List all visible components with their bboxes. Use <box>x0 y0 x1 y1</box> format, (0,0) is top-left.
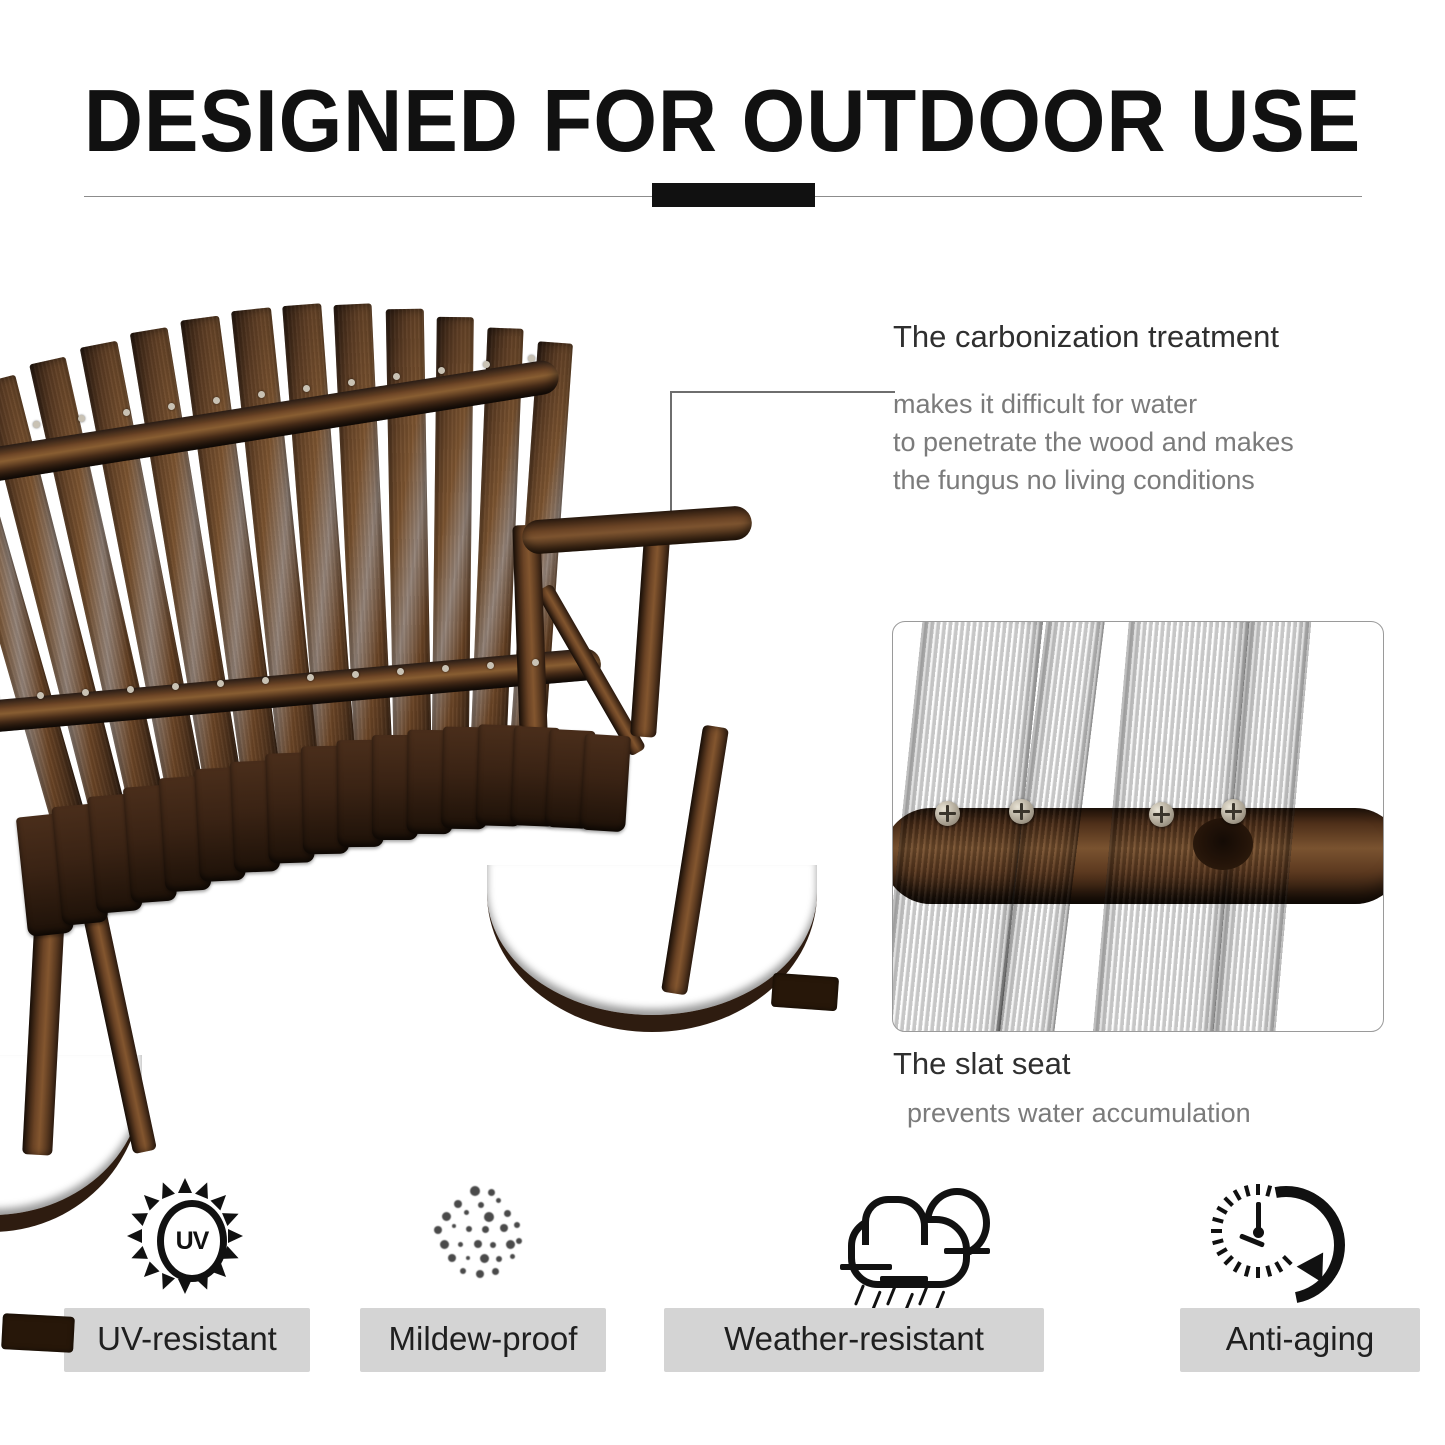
clock-tick-icon <box>1223 1196 1234 1207</box>
rail-screw <box>82 689 89 696</box>
callout-title: The carbonization treatment <box>893 318 1413 357</box>
spore-dot-icon <box>480 1254 489 1263</box>
header: DESIGNED FOR OUTDOOR USE <box>0 0 1445 230</box>
chip-anti-aging[interactable]: Anti-aging <box>1180 1308 1420 1372</box>
sun-ray-icon <box>127 1229 142 1243</box>
sun-ray-icon <box>178 1279 192 1294</box>
sun-ray-icon <box>222 1207 241 1226</box>
rocker-foot-right <box>771 973 839 1012</box>
rail-screw <box>442 665 449 672</box>
rail-screw <box>487 662 494 669</box>
leader-vertical <box>670 391 672 529</box>
title-divider-accent <box>652 183 815 207</box>
callout-body: makes it difficult for water to penetrat… <box>893 385 1413 500</box>
clock-tick-icon <box>1256 1267 1260 1278</box>
detail-wood-knot <box>1193 818 1253 870</box>
spore-dot-icon <box>452 1224 456 1228</box>
clock-tick-icon <box>1233 1189 1242 1201</box>
chip-mildew-proof[interactable]: Mildew-proof <box>360 1308 606 1372</box>
sun-ray-icon <box>178 1178 192 1193</box>
rail-screw <box>123 409 130 416</box>
rail-screw <box>78 415 85 422</box>
detail-screw <box>1221 799 1246 824</box>
clock-tick-icon <box>1256 1184 1260 1195</box>
detail-caption: The slat seat prevents water accumulatio… <box>893 1046 1413 1129</box>
spore-dot-icon <box>504 1210 511 1217</box>
sun-ray-icon <box>139 1190 160 1211</box>
spore-dot-icon <box>440 1240 449 1249</box>
spore-dot-icon <box>470 1186 480 1196</box>
rail-screw <box>348 379 355 386</box>
rocking-bench-illustration <box>0 255 862 1155</box>
sun-ray-icon <box>210 1190 231 1211</box>
clock-tick-icon <box>1211 1229 1222 1233</box>
sun-ray-icon <box>129 1207 148 1226</box>
seat-slat <box>579 734 631 833</box>
spore-dot-icon <box>442 1212 451 1221</box>
rail-screw <box>168 403 175 410</box>
chip-weather-resistant[interactable]: Weather-resistant <box>664 1308 1044 1372</box>
spore-dot-icon <box>458 1242 463 1247</box>
rail-screw <box>397 668 404 675</box>
leader-horizontal <box>670 391 895 393</box>
clock-tick-icon <box>1212 1217 1224 1224</box>
rail-screw <box>262 677 269 684</box>
rail-screw <box>258 391 265 398</box>
spore-dot-icon <box>474 1240 482 1248</box>
chip-uv-resistant[interactable]: UV-resistant <box>64 1308 310 1372</box>
spore-dot-icon <box>466 1226 472 1232</box>
rail-screw <box>532 659 539 666</box>
slat-seat-detail-photo <box>892 621 1384 1032</box>
spore-dot-icon <box>516 1238 522 1244</box>
rail-screw <box>393 373 400 380</box>
sun-ray-icon <box>222 1246 241 1265</box>
detail-screw <box>1009 799 1034 824</box>
rail-screw <box>37 692 44 699</box>
rain-streak-icon <box>854 1284 865 1306</box>
spore-dot-icon <box>500 1224 508 1232</box>
sun-ray-icon <box>195 1180 214 1199</box>
sun-ray-icon <box>156 1180 175 1199</box>
uv-label: UV <box>176 1227 209 1256</box>
rail-screw <box>213 397 220 404</box>
detail-screw <box>1149 802 1174 827</box>
infographic-page: DESIGNED FOR OUTDOOR USE The carbonizati… <box>0 0 1445 1445</box>
carbonization-callout: The carbonization treatment makes it dif… <box>893 318 1413 500</box>
rail-screw <box>127 686 134 693</box>
detail-caption-subtitle: prevents water accumulation <box>907 1098 1413 1129</box>
sun-ray-icon <box>129 1246 148 1265</box>
spore-dot-icon <box>482 1226 489 1233</box>
spore-dot-icon <box>460 1268 466 1274</box>
sun-ray-icon <box>228 1229 243 1243</box>
cloud-line-right <box>944 1248 990 1254</box>
page-title: DESIGNED FOR OUTDOOR USE <box>51 70 1395 172</box>
spore-dot-icon <box>496 1256 502 1262</box>
spore-dot-icon <box>490 1242 496 1248</box>
detail-caption-title: The slat seat <box>893 1046 1413 1082</box>
rail-screw <box>303 385 310 392</box>
arm-front-post <box>630 536 670 737</box>
clock-tick-icon <box>1244 1185 1251 1197</box>
rail-screw <box>483 361 490 368</box>
rail-screw <box>438 367 445 374</box>
spore-dot-icon <box>506 1240 515 1249</box>
rocker-runner-right <box>487 865 817 1032</box>
rail-screw <box>352 671 359 678</box>
rail-screw <box>217 680 224 687</box>
rocker-foot-left <box>1 1313 75 1353</box>
callout-body-line-3: the fungus no living conditions <box>893 461 1413 499</box>
spore-dot-icon <box>492 1268 499 1275</box>
clock-tick-icon <box>1216 1206 1228 1215</box>
spore-dot-icon <box>510 1254 515 1259</box>
spore-dot-icon <box>478 1202 484 1208</box>
clock-center-dot <box>1253 1227 1264 1238</box>
spore-dot-icon <box>466 1256 470 1260</box>
spore-dot-icon <box>484 1212 494 1222</box>
spore-dot-icon <box>464 1210 469 1215</box>
callout-body-line-1: makes it difficult for water <box>893 385 1413 423</box>
sun-ray-icon <box>195 1273 214 1292</box>
callout-body-line-2: to penetrate the wood and makes <box>893 423 1413 461</box>
feature-row: UV UV-resistant Mildew-proof <box>0 1180 1445 1410</box>
spore-dot-icon <box>448 1254 456 1262</box>
spore-dot-icon <box>514 1222 520 1228</box>
spore-dot-icon <box>488 1189 495 1196</box>
spore-dot-icon <box>434 1226 442 1234</box>
sun-ray-icon <box>139 1261 160 1282</box>
cloud-bump-icon <box>862 1196 928 1245</box>
detail-screw <box>935 801 960 826</box>
clock-arrow-ring <box>1204 1163 1368 1327</box>
clock-tick-icon <box>1212 1238 1224 1245</box>
rail-screw <box>528 355 535 362</box>
spore-dot-icon <box>476 1270 484 1278</box>
cloud-line-mid <box>880 1276 928 1282</box>
sun-ray-icon <box>156 1273 175 1292</box>
rail-screw <box>33 421 40 428</box>
spore-dot-icon <box>496 1198 501 1203</box>
product-photo <box>0 255 862 1155</box>
cloud-line-left <box>840 1264 892 1270</box>
rail-screw <box>172 683 179 690</box>
rail-screw <box>307 674 314 681</box>
spore-dot-icon <box>454 1200 462 1208</box>
